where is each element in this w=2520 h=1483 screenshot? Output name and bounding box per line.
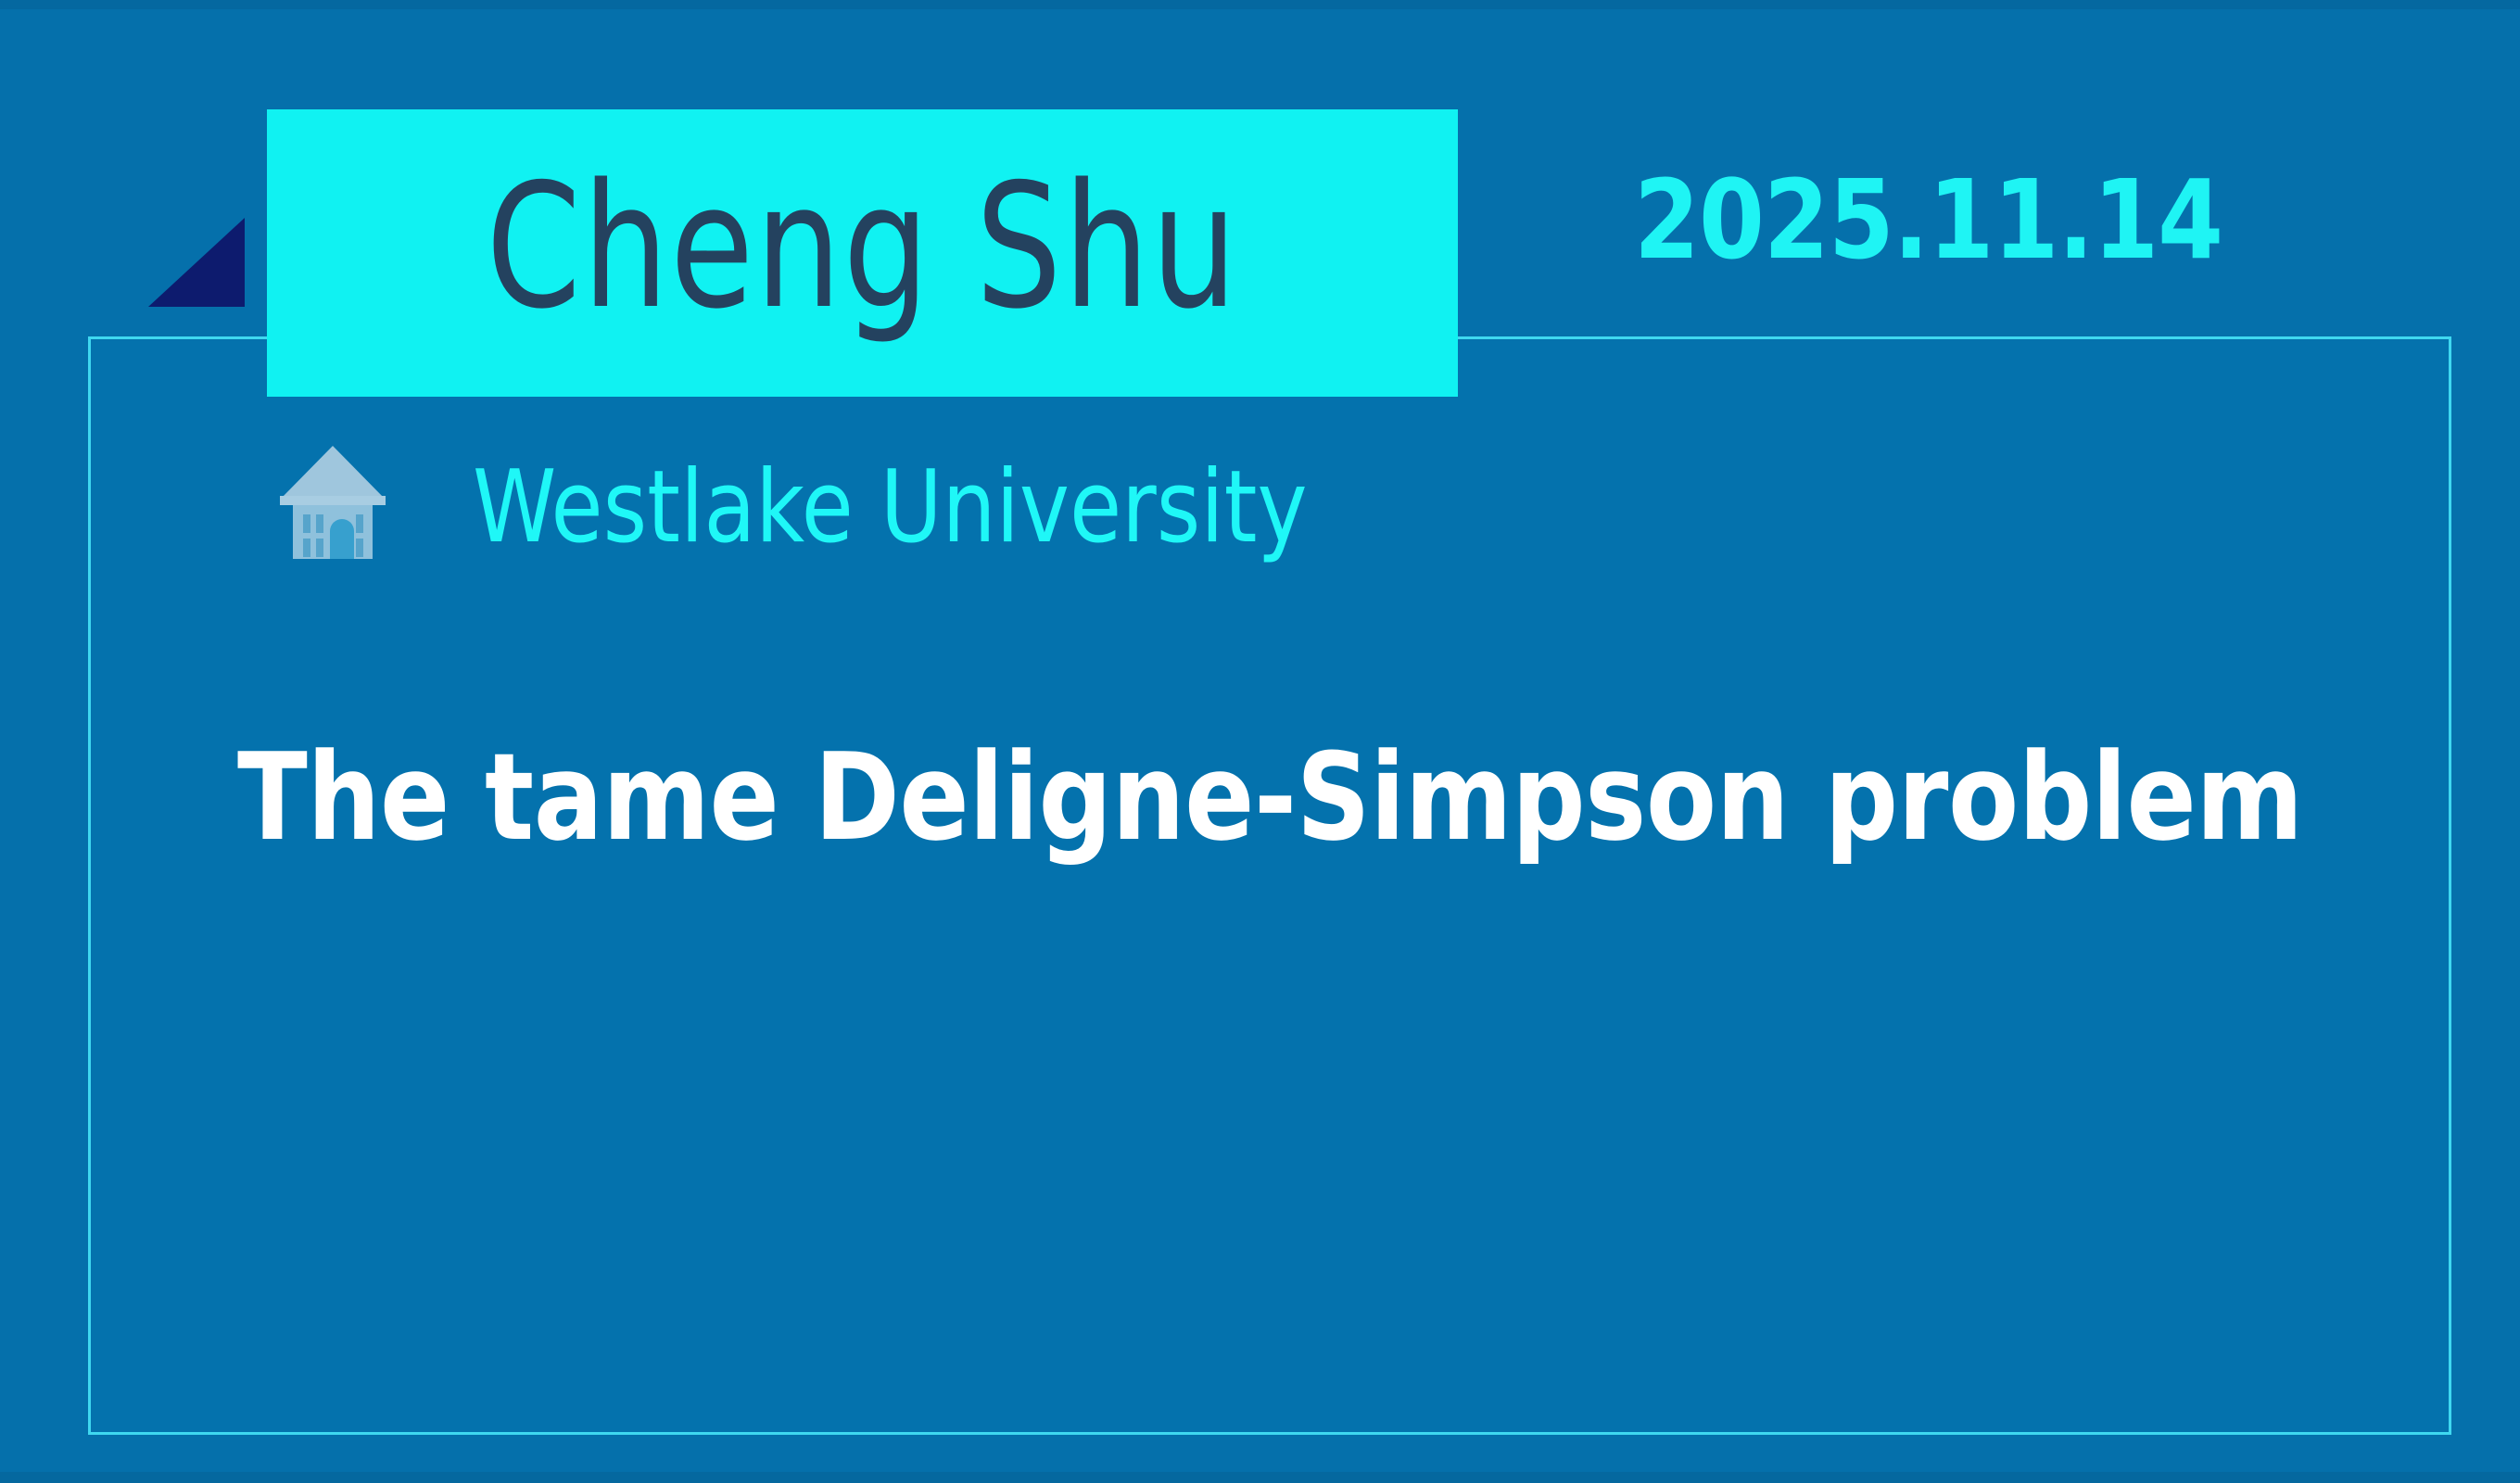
title-slide: Cheng Shu 2025.11.14 — [0, 0, 2520, 1483]
slide-title: The tame Deligne-Simpson problem — [237, 737, 2303, 857]
bottom-accent-band — [0, 1472, 2520, 1483]
speaker-name: Cheng Shu — [486, 161, 1238, 346]
affiliation-label: Westlake University — [473, 458, 1308, 558]
top-accent-band — [0, 0, 2520, 9]
speaker-name-plate: Cheng Shu — [267, 109, 1458, 397]
house-icon — [278, 440, 387, 561]
presentation-date: 2025.11.14 — [1634, 165, 2222, 274]
affiliation-row: Westlake University — [278, 436, 1361, 565]
navy-triangle-icon — [148, 218, 245, 307]
